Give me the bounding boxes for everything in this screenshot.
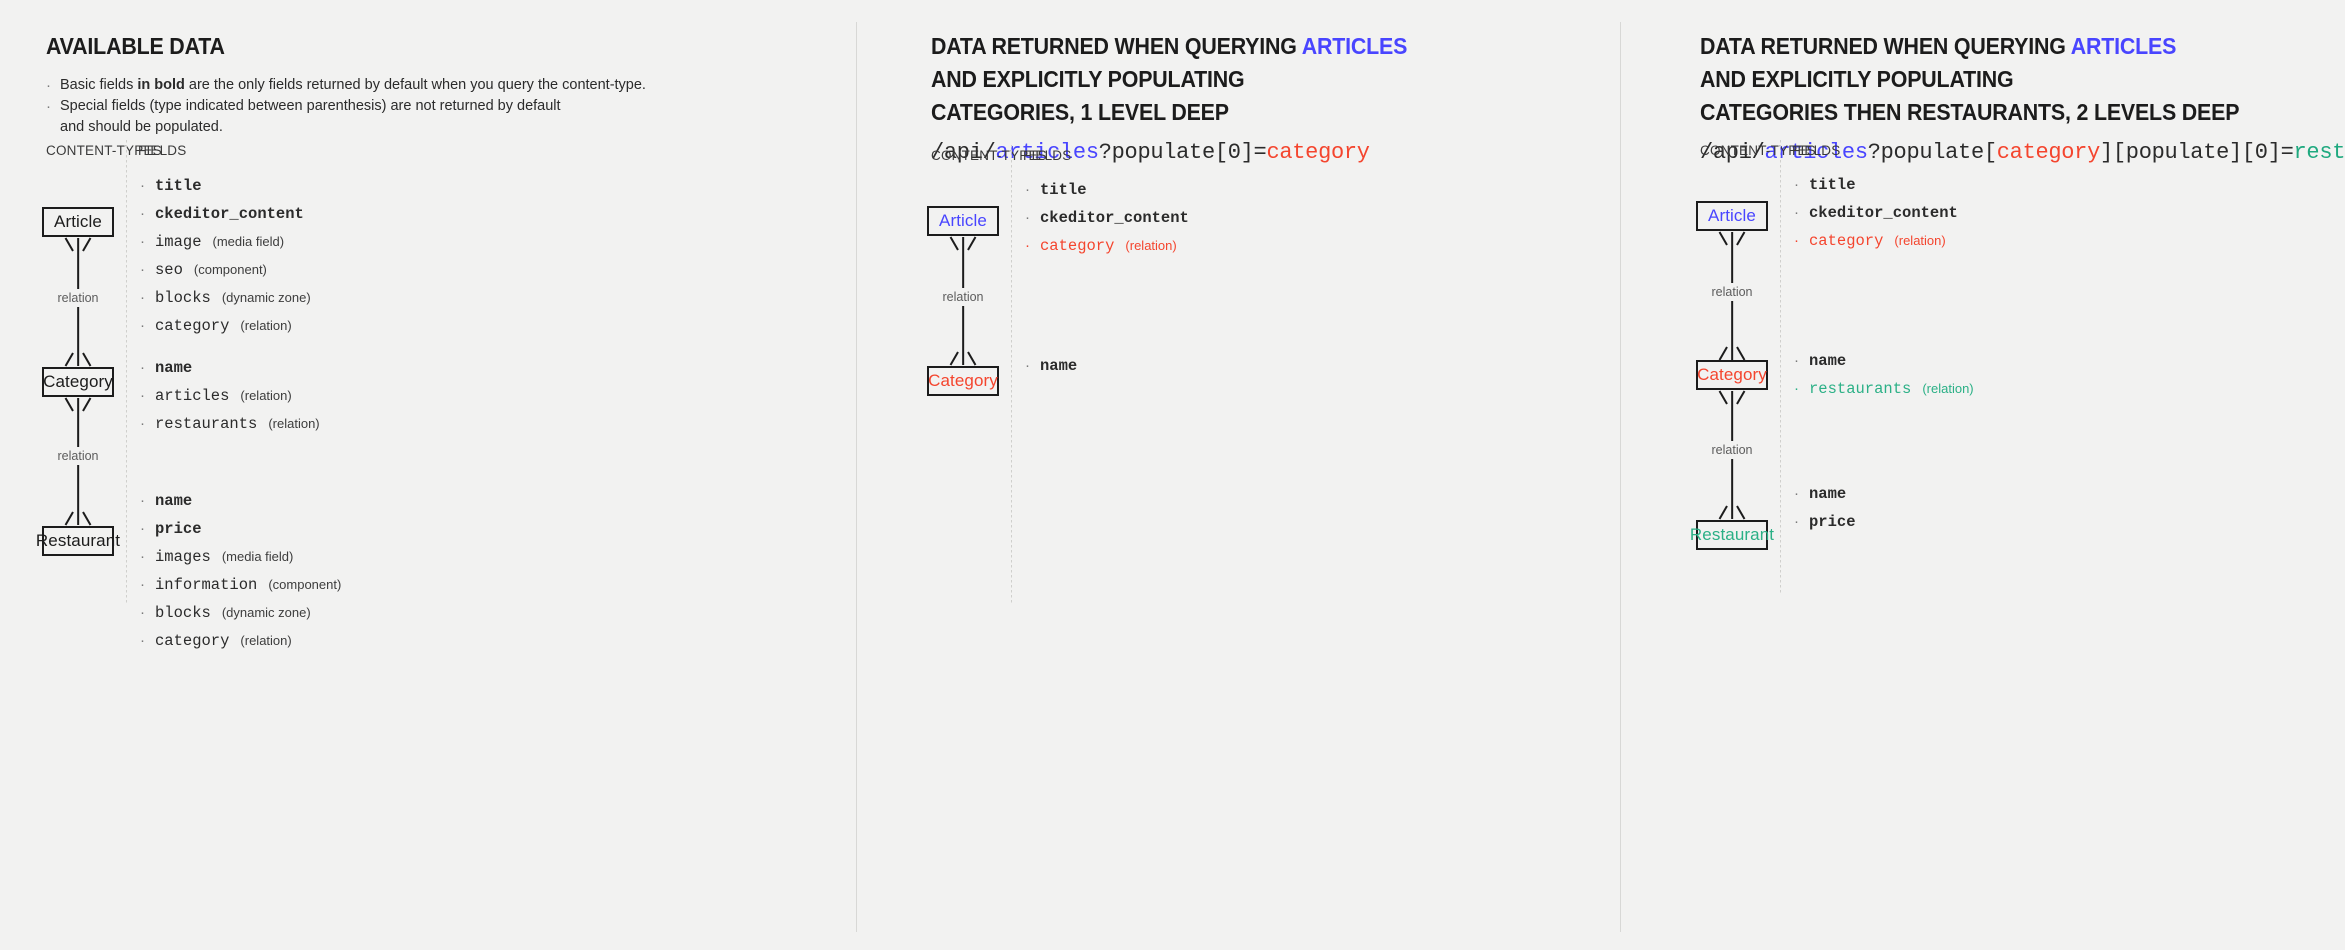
panel-2-heading-block: DATA RETURNED WHEN QUERYING ARTICLES AND… — [931, 30, 1443, 165]
entity-box-article[interactable]: Article — [1696, 201, 1768, 231]
field-row: ·articles(relation) — [140, 382, 320, 410]
column-label-fields: FIELDS — [1023, 148, 1071, 163]
field-row: ·name — [140, 487, 341, 515]
panel-populate-two-levels: DATA RETURNED WHEN QUERYING ARTICLES AND… — [1620, 0, 2345, 950]
field-group-category: ·name — [1025, 352, 1088, 380]
arrowhead-up-icon — [67, 396, 89, 410]
panel-title-line-1: DATA RETURNED WHEN QUERYING ARTICLES — [1700, 30, 2345, 63]
relation-label: relation — [53, 289, 104, 307]
panel-populate-one-level: DATA RETURNED WHEN QUERYING ARTICLES AND… — [856, 0, 1620, 950]
field-row: ·title — [1794, 171, 1969, 199]
arrowhead-up-icon — [1721, 230, 1743, 244]
column-label-fields: FIELDS — [1792, 143, 1840, 158]
field-row: ·seo(component) — [140, 256, 315, 284]
entity-label: Restaurant — [1690, 525, 1774, 545]
field-group-article: ·title ·ckeditor_content ·category(relat… — [1794, 171, 1969, 255]
relation-label: relation — [1707, 283, 1758, 301]
field-group-article: ·title ·ckeditor_content ·category(relat… — [1025, 176, 1200, 260]
entity-label: Article — [939, 211, 987, 231]
entity-box-category[interactable]: Category — [42, 367, 114, 397]
field-row: ·title — [1025, 176, 1200, 204]
entity-label: Restaurant — [36, 531, 120, 551]
entity-label: Category — [1697, 365, 1767, 385]
arrowhead-down-icon — [952, 353, 974, 367]
title-accent-articles: ARTICLES — [1302, 33, 1407, 59]
entity-label: Category — [43, 372, 113, 392]
field-group-article: ·title ·ckeditor_content ·image(media fi… — [140, 172, 315, 340]
api-seg-restaurants: restaurants — [2294, 140, 2345, 165]
arrowhead-up-icon — [952, 235, 974, 249]
field-row: ·name — [140, 354, 320, 382]
title-text: DATA RETURNED WHEN QUERYING — [931, 33, 1302, 59]
arrowhead-down-icon — [67, 354, 89, 368]
field-row: ·ckeditor_content — [140, 200, 315, 228]
field-row: ·category(relation) — [1794, 227, 1969, 255]
field-row: ·name — [1794, 480, 1867, 508]
entity-label: Article — [1708, 206, 1756, 226]
fields-divider — [1780, 140, 1781, 595]
field-row: ·category(relation) — [1025, 232, 1200, 260]
field-row: ·title — [140, 172, 315, 200]
title-accent-articles: ARTICLES — [2071, 33, 2176, 59]
api-seg-category: category — [1997, 140, 2100, 165]
relation-label: relation — [938, 288, 989, 306]
panel-available-data: AVAILABLE DATA · Basic fields in bold ar… — [0, 0, 856, 950]
field-row: ·category(relation) — [140, 312, 315, 340]
api-seg-plain: ][populate][0]= — [2100, 140, 2294, 165]
entity-box-restaurant[interactable]: Restaurant — [42, 526, 114, 556]
arrowhead-up-icon — [67, 236, 89, 250]
field-row: ·image(media field) — [140, 228, 315, 256]
field-row: ·blocks(dynamic zone) — [140, 599, 341, 627]
field-row: ·price — [140, 515, 341, 543]
column-label-fields: FIELDS — [138, 143, 186, 158]
entity-box-category[interactable]: Category — [1696, 360, 1768, 390]
note-lead: Basic fields — [60, 77, 137, 93]
fields-divider — [1011, 145, 1012, 605]
page-title: AVAILABLE DATA — [46, 30, 604, 63]
arrowhead-down-icon — [67, 513, 89, 527]
note-continuation: and should be populated. — [60, 117, 223, 138]
bullet-dot: · — [46, 75, 60, 96]
field-row: ·category(relation) — [140, 627, 341, 655]
entity-box-article[interactable]: Article — [927, 206, 999, 236]
field-group-restaurant: ·name ·price — [1794, 480, 1867, 536]
field-row: ·restaurants(relation) — [1794, 375, 1974, 403]
panel-title-line-2: AND EXPLICITLY POPULATING — [931, 63, 1407, 96]
field-group-category: ·name ·articles(relation) ·restaurants(r… — [140, 354, 320, 438]
field-row: ·name — [1025, 352, 1088, 380]
field-group-restaurant: ·name ·price ·images(media field) ·infor… — [140, 487, 341, 655]
field-row: ·price — [1794, 508, 1867, 536]
diagram-board: AVAILABLE DATA · Basic fields in bold ar… — [0, 0, 2345, 950]
note-lead: Special fields (type indicated between p… — [60, 98, 561, 114]
entity-box-restaurant[interactable]: Restaurant — [1696, 520, 1768, 550]
entity-label: Category — [928, 371, 998, 391]
arrowhead-up-icon — [1721, 389, 1743, 403]
relation-label: relation — [1707, 441, 1758, 459]
field-row: ·information(component) — [140, 571, 341, 599]
panel-title-line-1: DATA RETURNED WHEN QUERYING ARTICLES — [931, 30, 1407, 63]
field-row: ·images(media field) — [140, 543, 341, 571]
note-item-continuation: and should be populated. — [46, 117, 646, 138]
bullet-dot: · — [46, 96, 60, 117]
title-text: DATA RETURNED WHEN QUERYING — [1700, 33, 2071, 59]
field-row: ·restaurants(relation) — [140, 410, 320, 438]
note-item: · Special fields (type indicated between… — [46, 96, 646, 117]
field-row: ·blocks(dynamic zone) — [140, 284, 315, 312]
bullet-spacer — [46, 117, 60, 138]
api-seg-plain: ?populate[ — [1868, 140, 1997, 165]
relation-label: relation — [53, 447, 104, 465]
panel-1-heading-block: AVAILABLE DATA · Basic fields in bold ar… — [46, 30, 646, 138]
api-seg-plain: ?populate[0]= — [1099, 140, 1267, 165]
note-bold: in bold — [137, 77, 185, 93]
field-row: ·name — [1794, 347, 1974, 375]
panel-1-notes: · Basic fields in bold are the only fiel… — [46, 75, 646, 138]
panel-title-line-3: CATEGORIES THEN RESTAURANTS, 2 LEVELS DE… — [1700, 96, 2345, 129]
field-group-category: ·name ·restaurants(relation) — [1794, 347, 1974, 403]
field-row: ·ckeditor_content — [1794, 199, 1969, 227]
entity-box-article[interactable]: Article — [42, 207, 114, 237]
entity-label: Article — [54, 212, 102, 232]
arrowhead-down-icon — [1721, 507, 1743, 521]
field-row: ·ckeditor_content — [1025, 204, 1200, 232]
arrowhead-down-icon — [1721, 348, 1743, 362]
note-tail: are the only fields returned by default … — [185, 77, 646, 93]
api-seg-category: category — [1266, 140, 1369, 165]
entity-box-category[interactable]: Category — [927, 366, 999, 396]
note-item: · Basic fields in bold are the only fiel… — [46, 75, 646, 96]
panel-title-line-2: AND EXPLICITLY POPULATING — [1700, 63, 2345, 96]
panel-title-line-3: CATEGORIES, 1 LEVEL DEEP — [931, 96, 1407, 129]
fields-divider — [126, 140, 127, 605]
